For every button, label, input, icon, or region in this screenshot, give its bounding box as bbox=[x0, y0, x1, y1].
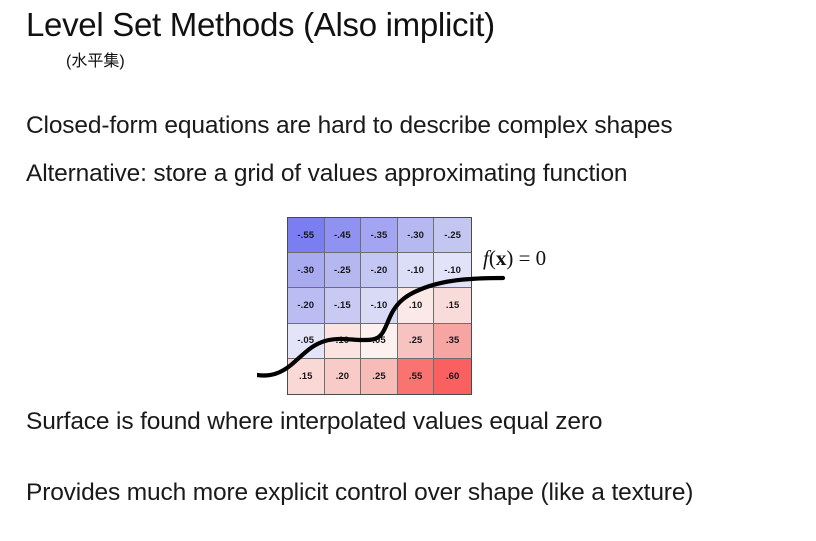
grid-cell-r4-c3: .05 bbox=[361, 324, 398, 359]
grid-cell-r3-c2: -.15 bbox=[325, 288, 362, 323]
page-title: Level Set Methods (Also implicit) bbox=[26, 6, 495, 44]
grid-cell-r4-c1: -.05 bbox=[288, 324, 325, 359]
grid-cell-r4-c4: .25 bbox=[398, 324, 435, 359]
grid-cell-r5-c1: .15 bbox=[288, 359, 325, 394]
grid-cell-r1-c5: -.25 bbox=[434, 218, 471, 253]
fx-variable: x bbox=[496, 246, 507, 270]
body-line-4: Provides much more explicit control over… bbox=[26, 477, 726, 508]
value-grid: -.55-.45-.35-.30-.25-.30-.25-.20-.10-.10… bbox=[287, 217, 472, 395]
fx-equals-zero-annotation: f(x) = 0 bbox=[483, 246, 546, 271]
grid-cell-r3-c5: .15 bbox=[434, 288, 471, 323]
grid-cell-r2-c3: -.20 bbox=[361, 253, 398, 288]
fx-open-paren: ( bbox=[489, 246, 496, 270]
grid-cell-r5-c3: .25 bbox=[361, 359, 398, 394]
grid-cell-r3-c4: .10 bbox=[398, 288, 435, 323]
page-subtitle: (水平集) bbox=[66, 47, 125, 71]
grid-cell-r2-c2: -.25 bbox=[325, 253, 362, 288]
grid-cell-r5-c2: .20 bbox=[325, 359, 362, 394]
grid-cell-r1-c4: -.30 bbox=[398, 218, 435, 253]
grid-cell-r5-c4: .55 bbox=[398, 359, 435, 394]
grid-cell-r5-c5: .60 bbox=[434, 359, 471, 394]
level-set-grid-figure: -.55-.45-.35-.30-.25-.30-.25-.20-.10-.10… bbox=[287, 217, 472, 395]
grid-cell-r1-c3: -.35 bbox=[361, 218, 398, 253]
grid-cell-r1-c1: -.55 bbox=[288, 218, 325, 253]
grid-cell-r3-c1: -.20 bbox=[288, 288, 325, 323]
grid-cell-r2-c4: -.10 bbox=[398, 253, 435, 288]
grid-cell-r1-c2: -.45 bbox=[325, 218, 362, 253]
fx-equals-zero: = 0 bbox=[513, 246, 546, 270]
grid-cell-r4-c5: .35 bbox=[434, 324, 471, 359]
slide-canvas: Level Set Methods (Also implicit) (水平集) … bbox=[0, 0, 816, 541]
body-line-1: Closed-form equations are hard to descri… bbox=[26, 112, 673, 140]
body-line-3: Surface is found where interpolated valu… bbox=[26, 408, 602, 436]
grid-cell-r4-c2: .10 bbox=[325, 324, 362, 359]
grid-cell-r2-c1: -.30 bbox=[288, 253, 325, 288]
grid-cell-r2-c5: -.10 bbox=[434, 253, 471, 288]
body-line-2: Alternative: store a grid of values appr… bbox=[26, 160, 627, 188]
grid-cell-r3-c3: -.10 bbox=[361, 288, 398, 323]
